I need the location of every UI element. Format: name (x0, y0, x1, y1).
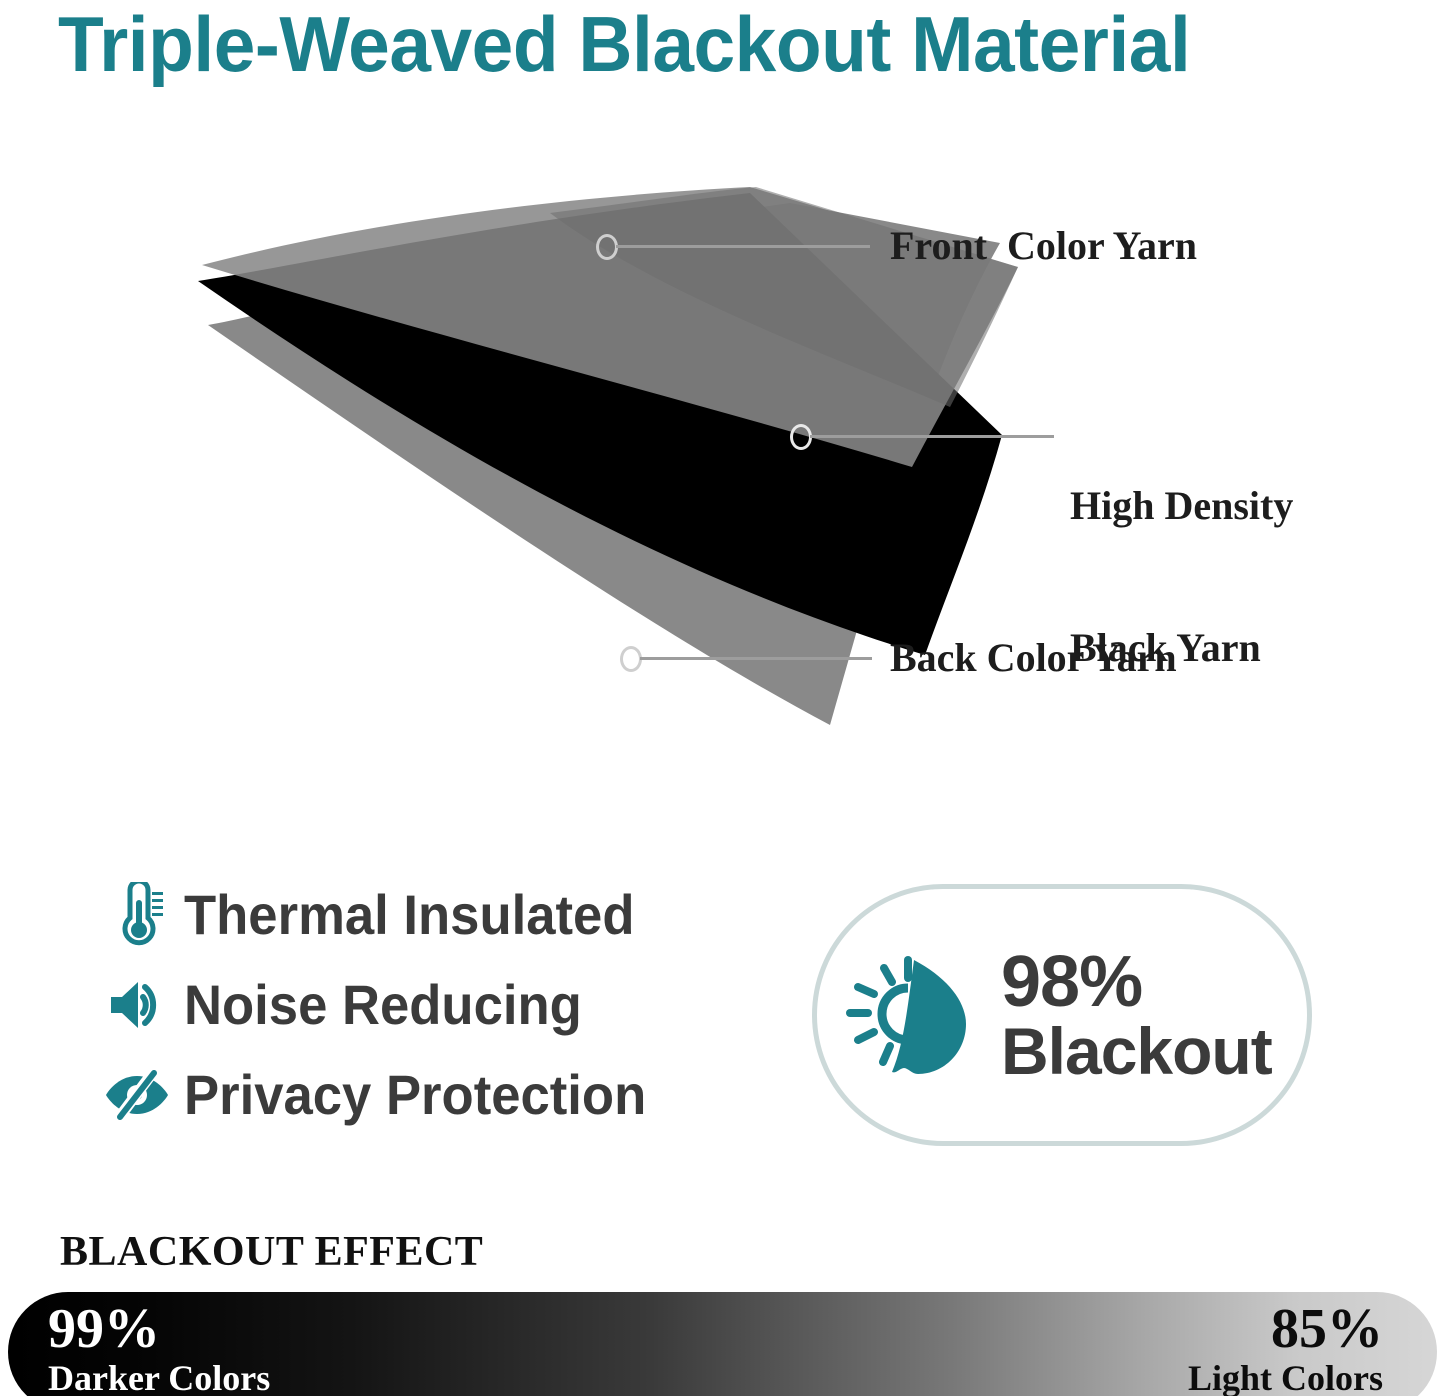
page-title: Triple-Weaved Blackout Material (58, 0, 1344, 92)
feature-label-noise: Noise Reducing (184, 976, 582, 1034)
callout-dot-back (620, 646, 642, 672)
badge-text: 98% Blackout (1001, 946, 1272, 1084)
callout-dot-black (790, 424, 812, 450)
light-colors-percent: 85% (1188, 1300, 1383, 1358)
callout-line-back (640, 657, 872, 660)
feature-item-noise: Noise Reducing (100, 960, 760, 1050)
feature-list: Thermal Insulated Noise Reducing (100, 870, 760, 1140)
feature-item-thermal: Thermal Insulated (100, 870, 760, 960)
sun-blocked-icon (817, 940, 1007, 1090)
feature-item-privacy: Privacy Protection (100, 1050, 760, 1140)
light-colors-label: Light Colors (1188, 1358, 1383, 1396)
callout-label-front-color-yarn: Front Color Yarn (890, 222, 1197, 269)
badge-percent: 98% (1001, 942, 1142, 1022)
eye-slash-icon (100, 1069, 174, 1121)
callout-line-black (810, 435, 1054, 438)
feature-label-privacy: Privacy Protection (184, 1066, 646, 1124)
blackout-effect-title: BLACKOUT EFFECT (60, 1228, 483, 1276)
thermometer-icon (100, 882, 174, 948)
blackout-badge: 98% Blackout (812, 884, 1312, 1146)
blackout-effect-darker-block: 99% Darker Colors (48, 1300, 270, 1396)
blackout-effect-light-block: 85% Light Colors (1188, 1300, 1383, 1396)
feature-label-thermal: Thermal Insulated (184, 886, 634, 944)
callout-label-back-color-yarn: Back Color Yarn (890, 634, 1177, 681)
speaker-volume-icon (100, 977, 174, 1033)
callout-dot-front (596, 234, 618, 260)
badge-word: Blackout (1001, 1014, 1272, 1088)
callout-label-high-density-black-yarn: High Density Black Yarn (1070, 388, 1293, 766)
infographic-page: Triple-Weaved Blackout Material Front Co… (0, 0, 1445, 1396)
darker-colors-percent: 99% (48, 1300, 270, 1358)
darker-colors-label: Darker Colors (48, 1358, 270, 1396)
callout-label-line-1: High Density (1070, 482, 1293, 529)
callout-line-front (616, 245, 870, 248)
